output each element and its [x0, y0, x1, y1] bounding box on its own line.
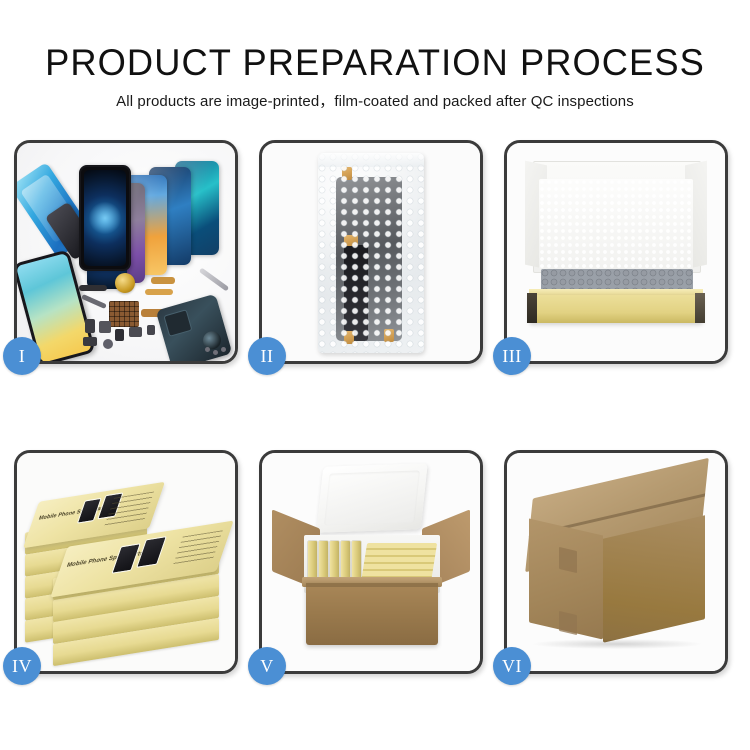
box-stack-group: Mobile Phone Spare Parts Mobile Phone Sp… — [25, 471, 225, 657]
process-step-panel-4[interactable]: Mobile Phone Spare Parts Mobile Phone Sp… — [14, 450, 238, 674]
component-chip-icon — [115, 329, 124, 341]
step-4-image: Mobile Phone Spare Parts Mobile Phone Sp… — [17, 453, 235, 671]
carton-ground-shadow — [533, 639, 701, 649]
step-1-image — [17, 143, 235, 361]
foam-lid-icon — [316, 463, 427, 533]
page-title: PRODUCT PREPARATION PROCESS — [8, 0, 743, 81]
flex-cable-icon — [145, 289, 173, 295]
step-badge-6: VI — [493, 647, 531, 685]
spare-parts-group — [79, 271, 229, 361]
copper-mesh-icon — [109, 301, 139, 327]
process-step-panel-3[interactable]: III — [504, 140, 728, 364]
page-subtitle: All products are image-printed，film-coat… — [0, 81, 750, 109]
process-step-grid: I II — [14, 140, 736, 674]
screws-icon — [205, 347, 227, 355]
tweezer-tool-icon — [199, 267, 229, 291]
white-foam-sheet-icon — [539, 179, 693, 269]
header: PRODUCT PREPARATION PROCESS All products… — [0, 0, 750, 109]
box-label-spec-lines — [173, 530, 223, 566]
tempered-glass-screen-icon — [79, 165, 131, 271]
step-badge-3: III — [493, 337, 531, 375]
step-badge-5: V — [248, 647, 286, 685]
box-label-phone-image — [111, 543, 140, 574]
step-5-image — [262, 453, 480, 671]
inner-box-right-edge — [695, 293, 705, 323]
step-badge-1: I — [3, 337, 41, 375]
component-chip-icon — [99, 321, 111, 333]
component-chip-icon — [147, 325, 155, 335]
process-step-panel-1[interactable]: I — [14, 140, 238, 364]
carton-tape-patch-icon — [559, 547, 577, 573]
camera-lens-icon — [103, 339, 113, 349]
component-chip-icon — [85, 319, 95, 333]
component-chip-icon — [129, 327, 142, 337]
process-step-panel-2[interactable]: II — [259, 140, 483, 364]
inner-box-left-edge — [527, 293, 537, 323]
speaker-bar-icon — [79, 285, 107, 291]
ribbon-cable-icon — [81, 294, 107, 309]
box-label-phone-image — [136, 536, 167, 568]
bubble-texture — [318, 153, 424, 353]
component-chip-icon — [83, 337, 97, 346]
flex-cable-icon — [151, 277, 175, 284]
inner-box-front-panel — [529, 295, 703, 323]
product-preparation-infographic: PRODUCT PREPARATION PROCESS All products… — [0, 0, 750, 750]
step-3-image — [507, 143, 725, 361]
carton-front-panel — [306, 583, 438, 645]
bubble-wrap-bag-icon — [318, 153, 424, 353]
bag-seal-icon — [318, 153, 424, 167]
step-2-image — [262, 143, 480, 361]
step-6-image — [507, 453, 725, 671]
process-step-panel-6[interactable]: VI — [504, 450, 728, 674]
gold-coil-icon — [115, 273, 135, 293]
step-badge-4: IV — [3, 647, 41, 685]
sealed-carton-right-face — [603, 515, 705, 643]
process-step-panel-5[interactable]: V — [259, 450, 483, 674]
step-badge-2: II — [248, 337, 286, 375]
carton-tape-patch-icon — [559, 611, 577, 635]
